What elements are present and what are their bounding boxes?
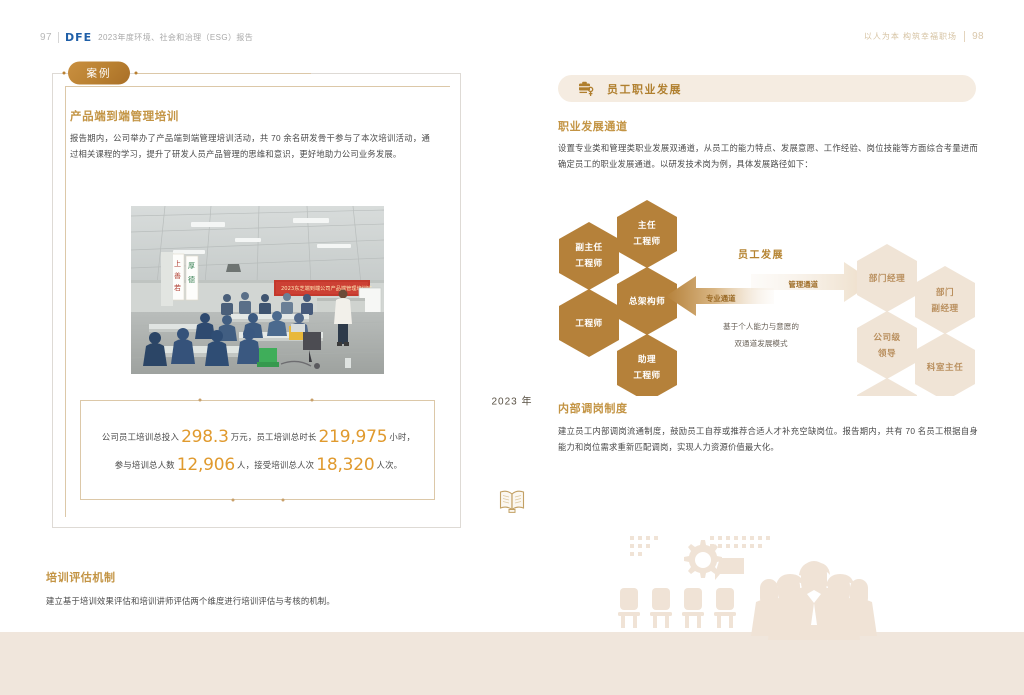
diagram-center-title: 员工发展 bbox=[738, 248, 784, 261]
stat-2-value-1: 12,906 bbox=[177, 455, 235, 475]
svg-text:工程师: 工程师 bbox=[575, 317, 602, 328]
svg-text:部门: 部门 bbox=[936, 286, 954, 297]
briefcase-person-icon bbox=[578, 81, 595, 97]
hex-keshi-zhuren: 科室主任 bbox=[915, 333, 975, 396]
management-track-group: 部门经理 部门 副经理 公司级 领导 科室主任 bbox=[857, 244, 975, 396]
training-eval-body: 建立基于培训效果评估和培训讲师评估两个维度进行培训评估与考核的机制。 bbox=[46, 594, 466, 610]
hex-gongsiji-lingdao: 公司级 领导 bbox=[857, 311, 917, 379]
report-page: 97 DFE 2023年度环境、社会和治理（ESG）报告 以人为本 构筑幸福职场… bbox=[0, 0, 1024, 695]
stat-2-value-3: 18,320 bbox=[316, 455, 374, 475]
page-number-right: 98 bbox=[972, 31, 984, 42]
hex-zhuren-gongchengshi: 主任 工程师 bbox=[617, 200, 677, 268]
internal-transfer-body: 建立员工内部调岗流通制度，鼓励员工自荐或推荐合适人才补充空缺岗位。报告期内，共有… bbox=[558, 423, 978, 455]
stat-year-label: 2023 年 bbox=[475, 393, 548, 408]
training-photo-image: 上善若 厚德 2023东芝端到端公司产品端管理培训班 bbox=[131, 206, 384, 374]
year-rule-dot-left bbox=[199, 399, 202, 402]
arrow-right-label: 管理通道 bbox=[788, 280, 818, 289]
stat-1-text-2: 万元，员工培训总时长 bbox=[231, 432, 317, 442]
hex-zhuli-gongchengshi: 助理 工程师 bbox=[617, 334, 677, 396]
people-gear-illustration bbox=[612, 532, 1024, 642]
header-divider bbox=[58, 32, 59, 43]
brand-logo: DFE bbox=[65, 31, 92, 44]
case-badge-rule bbox=[136, 73, 311, 74]
open-book-icon bbox=[484, 487, 540, 513]
svg-text:工程师: 工程师 bbox=[633, 235, 660, 246]
hex-gongchengshi: 工程师 bbox=[559, 289, 619, 357]
arrow-left-label: 专业通道 bbox=[706, 294, 736, 303]
running-header-right: 以人为本 构筑幸福职场 98 bbox=[864, 31, 984, 42]
book-rule-dot-right bbox=[282, 499, 285, 502]
svg-text:厚: 厚 bbox=[188, 262, 195, 270]
svg-text:副经理: 副经理 bbox=[931, 302, 958, 313]
training-photo: 上善若 厚德 2023东芝端到端公司产品端管理培训班 bbox=[131, 206, 384, 374]
stat-1-value-3: 219,975 bbox=[318, 427, 387, 447]
hex-zongjiagoushi: 总架构师 bbox=[617, 267, 677, 335]
header-slogan: 以人为本 构筑幸福职场 bbox=[864, 31, 957, 42]
svg-text:善: 善 bbox=[174, 271, 181, 280]
svg-text:科室主任: 科室主任 bbox=[927, 361, 963, 372]
internal-transfer-title: 内部调岗制度 bbox=[558, 400, 628, 416]
diagram-caption-1: 基于个人能力与意愿的 bbox=[723, 321, 799, 331]
svg-text:工程师: 工程师 bbox=[575, 257, 602, 268]
svg-text:助理: 助理 bbox=[638, 353, 656, 364]
svg-text:主任: 主任 bbox=[638, 219, 656, 230]
training-stats-box: 公司员工培训总投入298.3万元，员工培训总时长219,975小时， 参与培训总… bbox=[80, 400, 435, 500]
stat-line-1: 公司员工培训总投入298.3万元，员工培训总时长219,975小时， bbox=[81, 427, 436, 447]
case-rule-dot-right bbox=[135, 72, 138, 75]
career-path-body: 设置专业类和管理类职业发展双通道，从员工的能力特点、发展意愿、工作经验、岗位技能… bbox=[558, 140, 978, 172]
report-title: 2023年度环境、社会和治理（ESG）报告 bbox=[98, 32, 253, 43]
career-path-title: 职业发展通道 bbox=[558, 118, 628, 134]
running-header-left: 97 DFE 2023年度环境、社会和治理（ESG）报告 bbox=[40, 31, 253, 44]
hex-bumen-fujingli: 部门 副经理 bbox=[915, 266, 975, 334]
svg-text:部门经理: 部门经理 bbox=[869, 272, 905, 283]
stat-2-text-2: 人，接受培训总人次 bbox=[237, 460, 314, 470]
svg-text:工程师: 工程师 bbox=[633, 369, 660, 380]
stat-2-text-4: 人次。 bbox=[377, 460, 403, 470]
book-rule-dot-left bbox=[232, 499, 235, 502]
svg-text:公司级: 公司级 bbox=[873, 331, 900, 342]
career-path-diagram-svg: 主任 工程师 副主任 工程师 总架构师 工程师 bbox=[556, 196, 976, 396]
svg-text:上: 上 bbox=[174, 259, 181, 268]
section-header-pill: 员工职业发展 bbox=[558, 75, 976, 102]
page-number-left: 97 bbox=[40, 32, 52, 43]
hex-keshi-fuzhuren: 科室 副主任 bbox=[857, 378, 917, 396]
professional-track-group: 主任 工程师 副主任 工程师 总架构师 工程师 bbox=[559, 200, 677, 396]
case-badge: 案例 bbox=[68, 62, 130, 85]
career-path-diagram: 主任 工程师 副主任 工程师 总架构师 工程师 bbox=[556, 196, 976, 396]
case-body-text: 报告期内，公司举办了产品端到端管理培训活动，共 70 余名研发骨干参与了本次培训… bbox=[70, 130, 430, 162]
hex-bumen-jingli: 部门经理 bbox=[857, 244, 917, 312]
svg-text:副主任: 副主任 bbox=[575, 241, 602, 252]
stat-2-text-0: 参与培训总人数 bbox=[115, 460, 175, 470]
year-rule-dot-right bbox=[311, 399, 314, 402]
diagram-caption-2: 双通道发展模式 bbox=[734, 338, 788, 348]
case-rule-dot-left bbox=[63, 72, 66, 75]
case-title: 产品端到端管理培训 bbox=[70, 108, 440, 124]
stat-1-value-1: 298.3 bbox=[181, 427, 229, 447]
section-title: 员工职业发展 bbox=[607, 81, 682, 97]
hex-fu-zhuren-gongchengshi: 副主任 工程师 bbox=[559, 222, 619, 290]
svg-text:总架构师: 总架构师 bbox=[629, 295, 665, 306]
svg-text:德: 德 bbox=[188, 275, 195, 284]
svg-text:若: 若 bbox=[174, 283, 181, 292]
header-divider-right bbox=[964, 31, 965, 42]
stat-1-text-0: 公司员工培训总投入 bbox=[102, 432, 179, 442]
svg-text:2023东芝端到端公司产品端管理培训班: 2023东芝端到端公司产品端管理培训班 bbox=[281, 284, 372, 292]
stat-line-2: 参与培训总人数12,906人，接受培训总人次18,320人次。 bbox=[81, 455, 436, 475]
training-eval-title: 培训评估机制 bbox=[46, 569, 116, 585]
stat-1-text-4: 小时， bbox=[389, 432, 415, 442]
svg-text:领导: 领导 bbox=[878, 347, 896, 358]
